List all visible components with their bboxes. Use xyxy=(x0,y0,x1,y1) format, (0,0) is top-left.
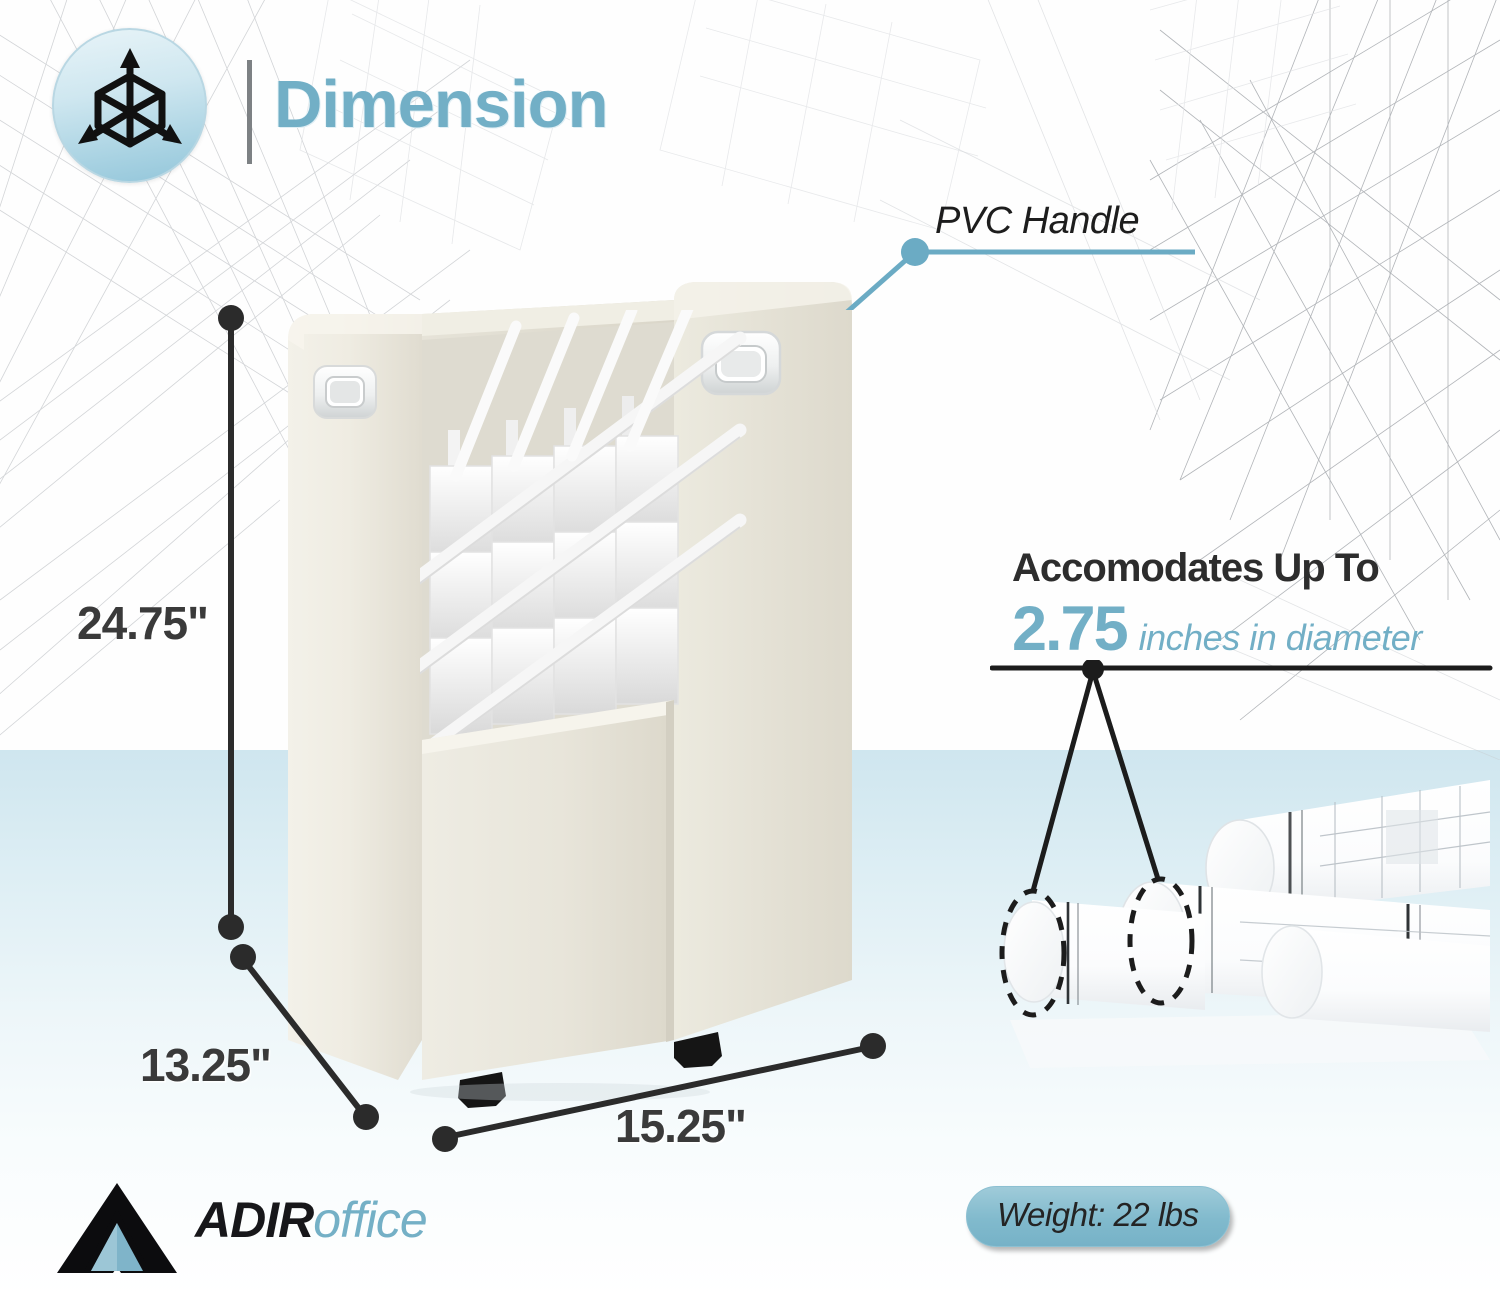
dimension-width-label: 15.25" xyxy=(615,1099,746,1153)
brand-logo: ADIRoffice xyxy=(55,1183,475,1278)
capacity-block: Accomodates Up To 2.75 inches in diamete… xyxy=(1012,546,1482,665)
weight-badge: Weight: 22 lbs xyxy=(966,1186,1230,1247)
dimension-height-label: 24.75" xyxy=(77,596,208,650)
brand-name-primary: ADIR xyxy=(195,1192,313,1248)
infographic-canvas: Dimension xyxy=(0,0,1500,1297)
brand-name-secondary: office xyxy=(313,1192,427,1248)
dimension-depth-label: 13.25" xyxy=(140,1038,271,1092)
blueprint-rolls-illustration xyxy=(990,660,1500,1080)
adir-arrow-logo-icon xyxy=(55,1183,180,1275)
capacity-headline: Accomodates Up To xyxy=(1012,546,1482,591)
capacity-value: 2.75 xyxy=(1012,593,1127,665)
capacity-unit: inches in diameter xyxy=(1139,617,1422,659)
